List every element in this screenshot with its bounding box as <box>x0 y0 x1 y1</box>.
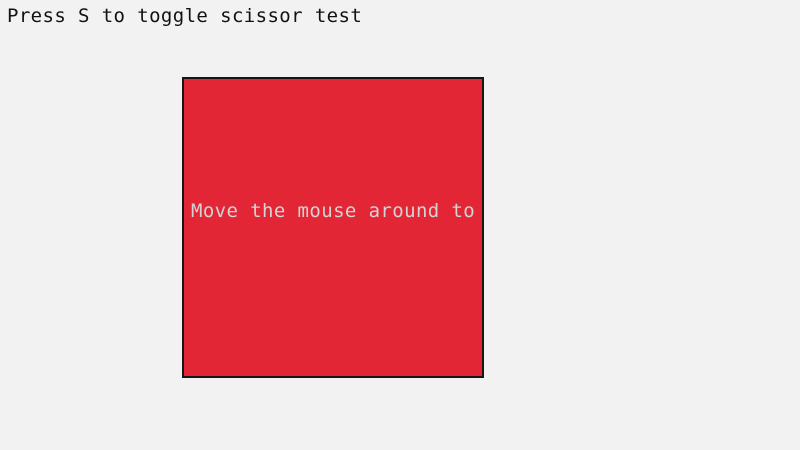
scissor-clipped-text: Move the mouse around to r <box>191 199 482 223</box>
scissor-test-rectangle[interactable]: Move the mouse around to r <box>182 77 484 378</box>
app-canvas: Press S to toggle scissor test Move the … <box>0 0 800 450</box>
hint-text: Press S to toggle scissor test <box>7 4 362 28</box>
scissor-clip-region: Move the mouse around to r <box>184 79 482 376</box>
